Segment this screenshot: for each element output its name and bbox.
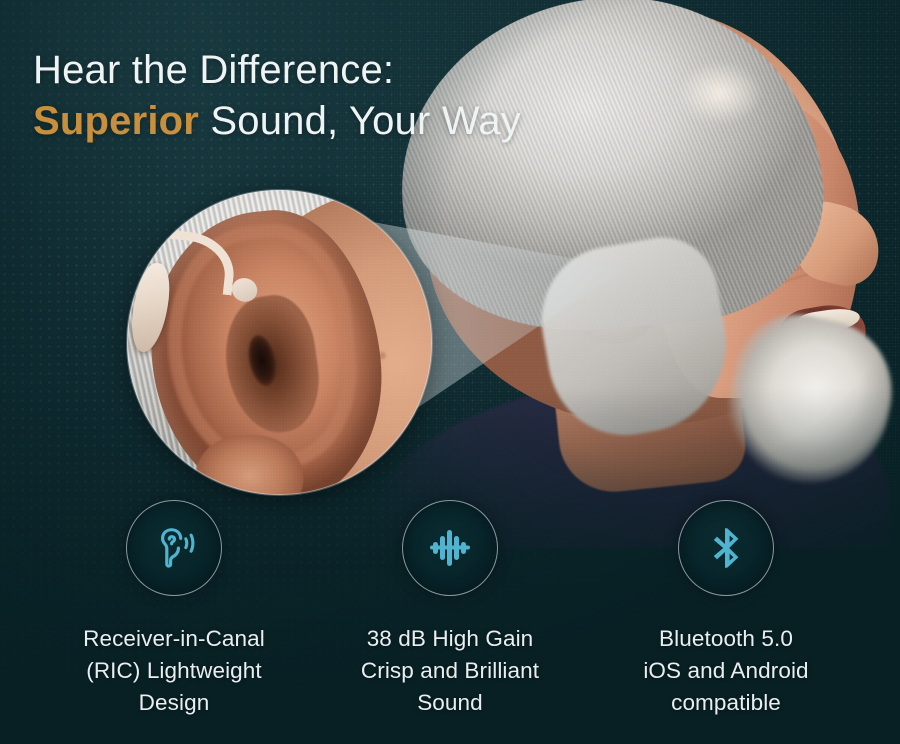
sound-wave-bars-icon <box>402 500 498 596</box>
magnified-ear-circle <box>127 190 432 495</box>
feature-item-high-gain: 38 dB High Gain Crisp and Brilliant Soun… <box>312 500 588 719</box>
bluetooth-icon <box>678 500 774 596</box>
page-title: Hear the Difference: Superior Sound, You… <box>33 45 653 147</box>
headline-line-1: Hear the Difference: <box>33 48 394 92</box>
headline-line-2-rest: Sound, Your Way <box>199 99 521 143</box>
ear-hearing-icon <box>126 500 222 596</box>
feature-caption: Receiver-in-Canal (RIC) Lightweight Desi… <box>83 623 265 719</box>
feature-list: Receiver-in-Canal (RIC) Lightweight Desi… <box>0 500 900 719</box>
promo-banner: Hear the Difference: Superior Sound, You… <box>0 0 900 744</box>
feature-item-receiver-in-canal: Receiver-in-Canal (RIC) Lightweight Desi… <box>36 500 312 719</box>
zoom-grain <box>127 190 432 495</box>
feature-item-bluetooth: Bluetooth 5.0 iOS and Android compatible <box>588 500 864 719</box>
headline-highlight-word: Superior <box>33 99 199 143</box>
feature-caption: Bluetooth 5.0 iOS and Android compatible <box>643 623 808 719</box>
feature-caption: 38 dB High Gain Crisp and Brilliant Soun… <box>361 623 539 719</box>
headline-line-2: Superior Sound, Your Way <box>33 96 653 147</box>
